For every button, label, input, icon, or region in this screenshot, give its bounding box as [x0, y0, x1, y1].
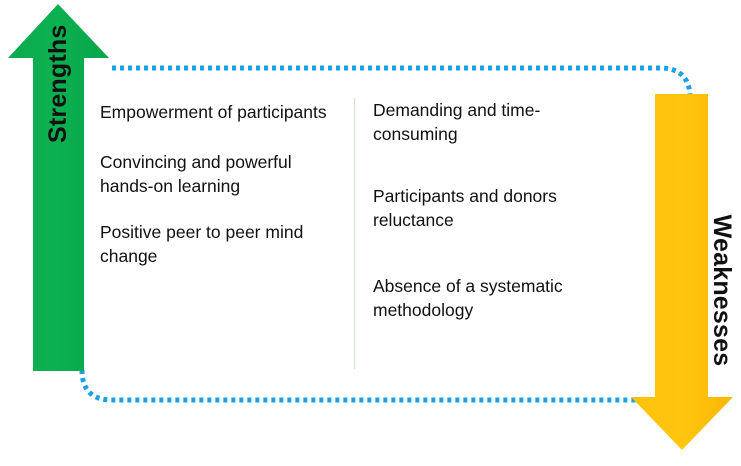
- list-item: Demanding and time-consuming: [373, 98, 621, 146]
- swot-diagram-canvas: Strengths Weaknesses Empowerment of part…: [0, 0, 741, 466]
- list-item: Participants and donors reluctance: [373, 184, 621, 232]
- list-item: Absence of a systematic methodology: [373, 274, 621, 322]
- column-divider: [354, 98, 355, 369]
- list-item: Empowerment of participants: [100, 100, 348, 124]
- list-item: Positive peer to peer mind change: [100, 220, 348, 268]
- weaknesses-label: Weaknesses: [662, 208, 741, 373]
- list-item: Convincing and powerful hands-on learnin…: [100, 150, 348, 198]
- weaknesses-list: Demanding and time-consuming Participant…: [373, 92, 621, 322]
- strengths-list: Empowerment of participants Convincing a…: [100, 92, 348, 268]
- swot-text-columns: Empowerment of participants Convincing a…: [100, 92, 645, 377]
